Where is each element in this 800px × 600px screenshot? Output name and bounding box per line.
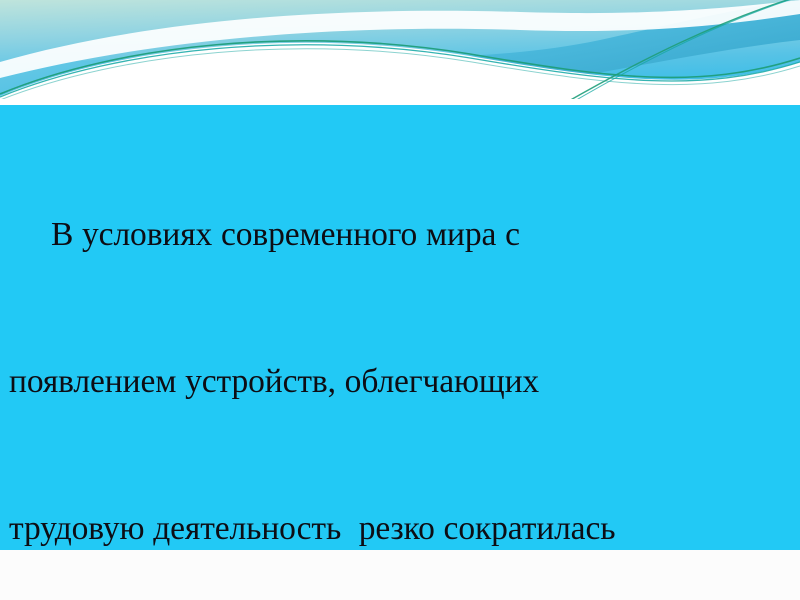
- slide-content-block: В условиях современного мира с появление…: [0, 105, 800, 550]
- presentation-slide: В условиях современного мира с появление…: [0, 0, 800, 600]
- body-line: появлением устройств, облегчающих: [9, 357, 788, 406]
- header-wave-banner: [0, 0, 800, 106]
- slide-body-text: В условиях современного мира с появление…: [9, 112, 788, 600]
- wave-ribbon-icon: [0, 0, 800, 106]
- slide-footer-area: [0, 550, 800, 600]
- body-line: трудовую деятельность резко сократилась: [9, 504, 788, 553]
- body-line: В условиях современного мира с: [9, 210, 788, 259]
